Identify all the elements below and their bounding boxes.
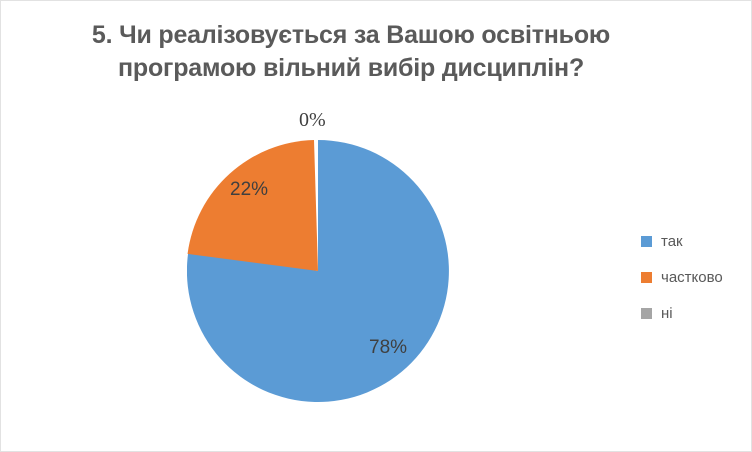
legend-swatch-tak	[641, 236, 652, 247]
legend-label-chastkovo: частково	[661, 269, 723, 286]
pie-slice-chastkovo[interactable]	[188, 140, 318, 271]
chart-legend: так частково ні	[641, 223, 747, 331]
legend-label-ni: ні	[661, 305, 673, 322]
legend-swatch-ni	[641, 308, 652, 319]
legend-swatch-chastkovo	[641, 272, 652, 283]
legend-item-tak[interactable]: так	[641, 223, 747, 259]
legend-label-tak: так	[661, 233, 683, 250]
data-label-chastkovo: 22%	[230, 179, 268, 201]
data-label-ni: 0%	[299, 109, 326, 132]
pie-chart-container: 5. Чи реалізовується за Вашою освітньою …	[0, 0, 752, 452]
legend-item-chastkovo[interactable]: частково	[641, 259, 747, 295]
legend-item-ni[interactable]: ні	[641, 295, 747, 331]
data-label-tak: 78%	[369, 337, 407, 359]
pie-graphic	[187, 140, 449, 402]
plot-area: 78% 22% 0%	[1, 1, 752, 452]
